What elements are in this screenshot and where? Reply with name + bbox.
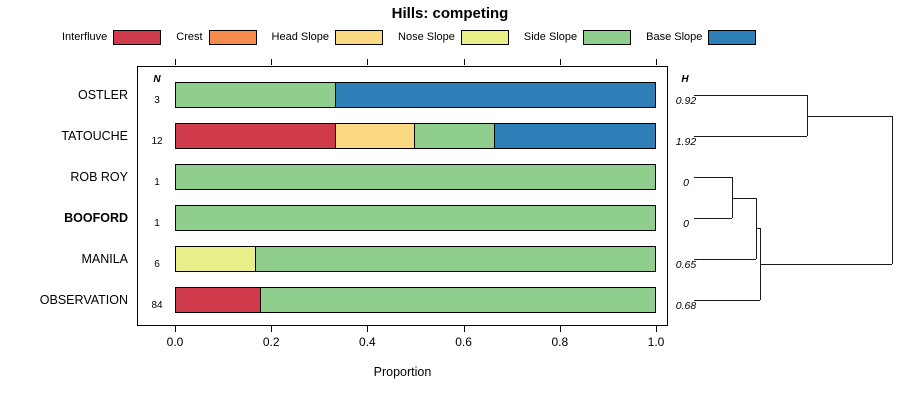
dendro-branch-manila bbox=[694, 259, 756, 260]
row-label-observation: OBSERVATION bbox=[0, 293, 128, 307]
dendro-branch-observation bbox=[694, 300, 760, 301]
row-label-booford: BOOFORD bbox=[0, 211, 128, 225]
bar-segment[interactable] bbox=[176, 165, 655, 189]
n-column-header: N bbox=[145, 74, 169, 85]
dendro-branch-robroy-booford bbox=[732, 198, 756, 199]
dendro-branch-upper-cluster bbox=[807, 116, 892, 117]
row-label-manila: MANILA bbox=[0, 252, 128, 266]
bar-segment[interactable] bbox=[495, 124, 655, 148]
bar-segment[interactable] bbox=[256, 247, 655, 271]
bar-segment[interactable] bbox=[176, 206, 655, 230]
stacked-bar[interactable] bbox=[175, 164, 656, 190]
dendro-branch-robroy bbox=[694, 177, 732, 178]
row-n-value: 84 bbox=[143, 300, 171, 311]
row-n-value: 1 bbox=[143, 218, 171, 229]
dendro-branch-ostler bbox=[694, 95, 807, 96]
bar-segment[interactable] bbox=[176, 124, 336, 148]
stacked-bar[interactable] bbox=[175, 205, 656, 231]
dendro-branch-tatouche bbox=[694, 136, 807, 137]
dendro-branch-lower-group bbox=[760, 264, 892, 265]
bar-segment[interactable] bbox=[176, 247, 256, 271]
row-n-value: 6 bbox=[143, 259, 171, 270]
bar-segment[interactable] bbox=[336, 83, 655, 107]
bar-segment[interactable] bbox=[415, 124, 495, 148]
dendro-branch-booford bbox=[694, 218, 732, 219]
stacked-bar[interactable] bbox=[175, 123, 656, 149]
bar-segment[interactable] bbox=[261, 288, 655, 312]
stacked-bar[interactable] bbox=[175, 82, 656, 108]
bar-segment[interactable] bbox=[336, 124, 416, 148]
bar-segment[interactable] bbox=[176, 288, 261, 312]
dendrogram bbox=[676, 60, 900, 340]
stacked-bar[interactable] bbox=[175, 287, 656, 313]
row-n-value: 3 bbox=[143, 95, 171, 106]
row-label-tatouche: TATOUCHE bbox=[0, 129, 128, 143]
row-label-rob-roy: ROB ROY bbox=[0, 170, 128, 184]
bar-segment[interactable] bbox=[176, 83, 336, 107]
chart-canvas: Hills: competing InterfluveCrestHead Slo… bbox=[0, 0, 900, 400]
dendro-join-root bbox=[892, 116, 893, 265]
row-n-value: 1 bbox=[143, 177, 171, 188]
row-n-value: 12 bbox=[143, 136, 171, 147]
row-label-ostler: OSTLER bbox=[0, 88, 128, 102]
stacked-bar[interactable] bbox=[175, 246, 656, 272]
